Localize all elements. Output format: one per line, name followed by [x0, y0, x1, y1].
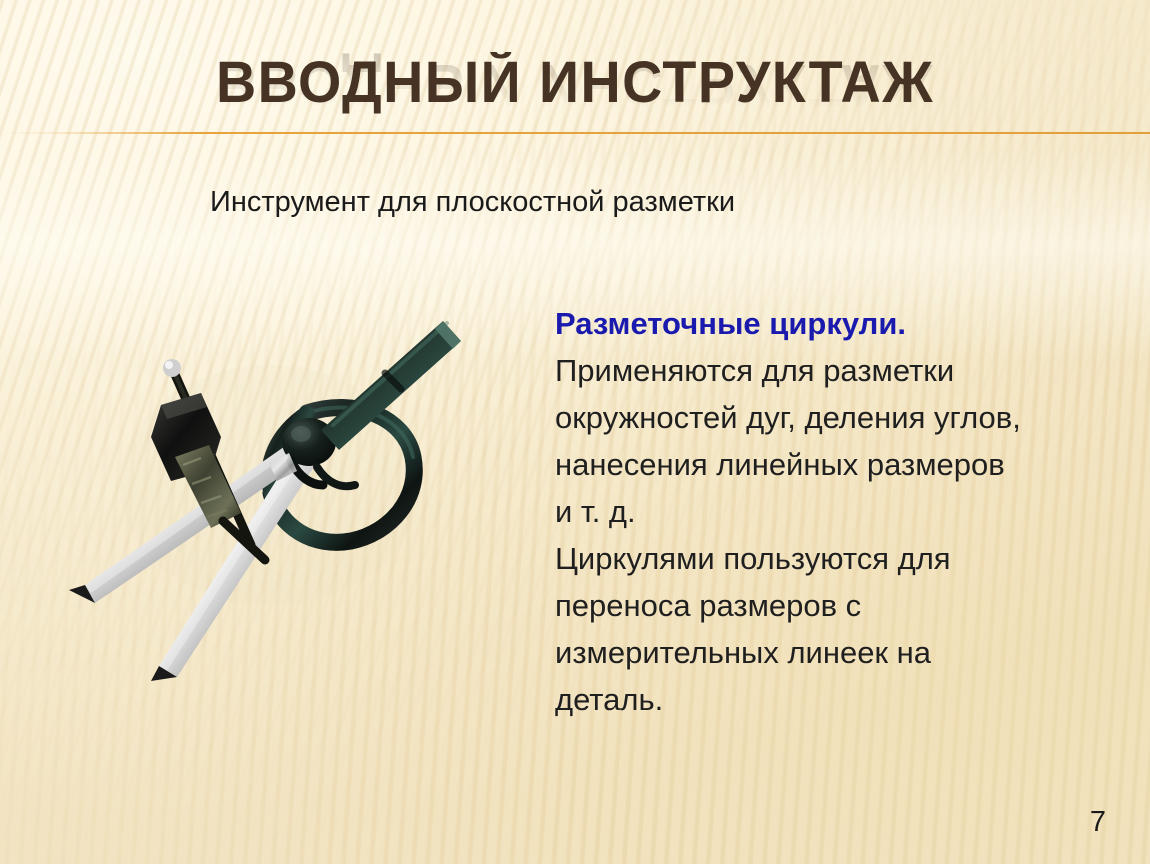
body-line-1: Применяются для разметки: [555, 347, 1115, 394]
title-underline-rule: [0, 132, 1150, 134]
body-line-2: окружностей дуг, деления углов,: [555, 394, 1115, 441]
body-line-4: и т. д.: [555, 488, 1115, 535]
body-line-6: переноса размеров с: [555, 582, 1115, 629]
body-text-block: Разметочные циркули. Применяются для раз…: [555, 300, 1115, 723]
body-line-7: измерительных линеек на: [555, 629, 1115, 676]
marking-compass-illustration: [55, 285, 485, 685]
slide-page-number: 7: [1078, 805, 1118, 839]
page-title: ВВОДНЫЙ ИНСТРУКТАЖ: [23, 52, 1127, 114]
body-line-0: Разметочные циркули.: [555, 300, 1115, 347]
body-line-8: деталь.: [555, 676, 1115, 723]
slide-subtitle: Инструмент для плоскостной разметки: [210, 185, 735, 219]
body-line-3: нанесения линейных размеров: [555, 441, 1115, 488]
slide-title-block: ВВОДНЫЙ ИНСТРУКТАЖ ВВОДНЫЙ ИНСТРУКТАЖ: [0, 52, 1150, 134]
presentation-slide: ВВОДНЫЙ ИНСТРУКТАЖ ВВОДНЫЙ ИНСТРУКТАЖ Ин…: [0, 0, 1150, 864]
body-line-5: Циркулями пользуются для: [555, 535, 1115, 582]
